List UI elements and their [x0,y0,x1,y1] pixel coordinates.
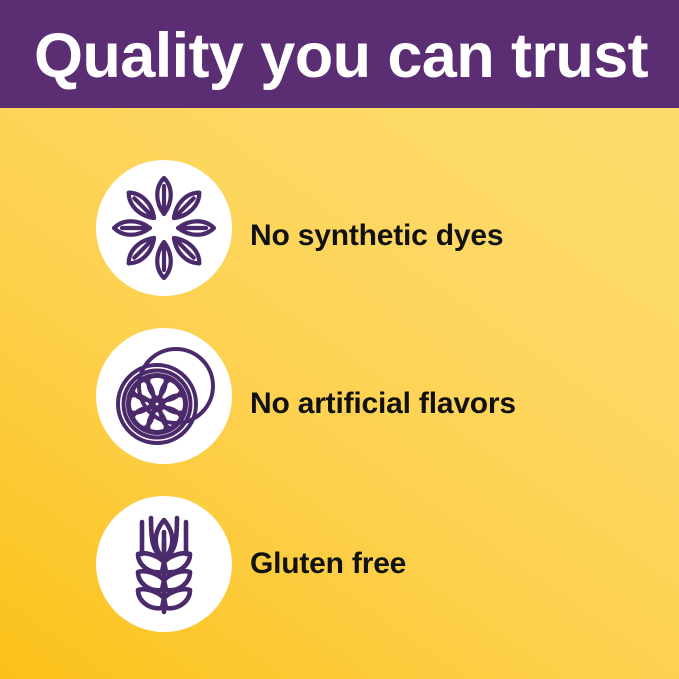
quality-you-can-trust-panel: Quality you can trust [0,0,679,679]
icon-circle-no-synthetic-dyes [96,160,232,296]
citrus-slice-icon [96,328,232,464]
feature-row: No synthetic dyes [0,158,679,298]
feature-row: No artificial flavors [0,326,679,466]
header-band: Quality you can trust [0,0,679,108]
feature-label: Gluten free [250,547,406,581]
flower-burst-icon [96,160,232,296]
feature-row: Gluten free [0,494,679,634]
icon-circle-gluten-free [96,496,232,632]
icon-circle-no-artificial-flavors [96,328,232,464]
page-title: Quality you can trust [34,22,659,90]
feature-label: No synthetic dyes [250,219,503,253]
wheat-stalk-icon [96,496,232,632]
feature-label: No artificial flavors [250,387,516,421]
